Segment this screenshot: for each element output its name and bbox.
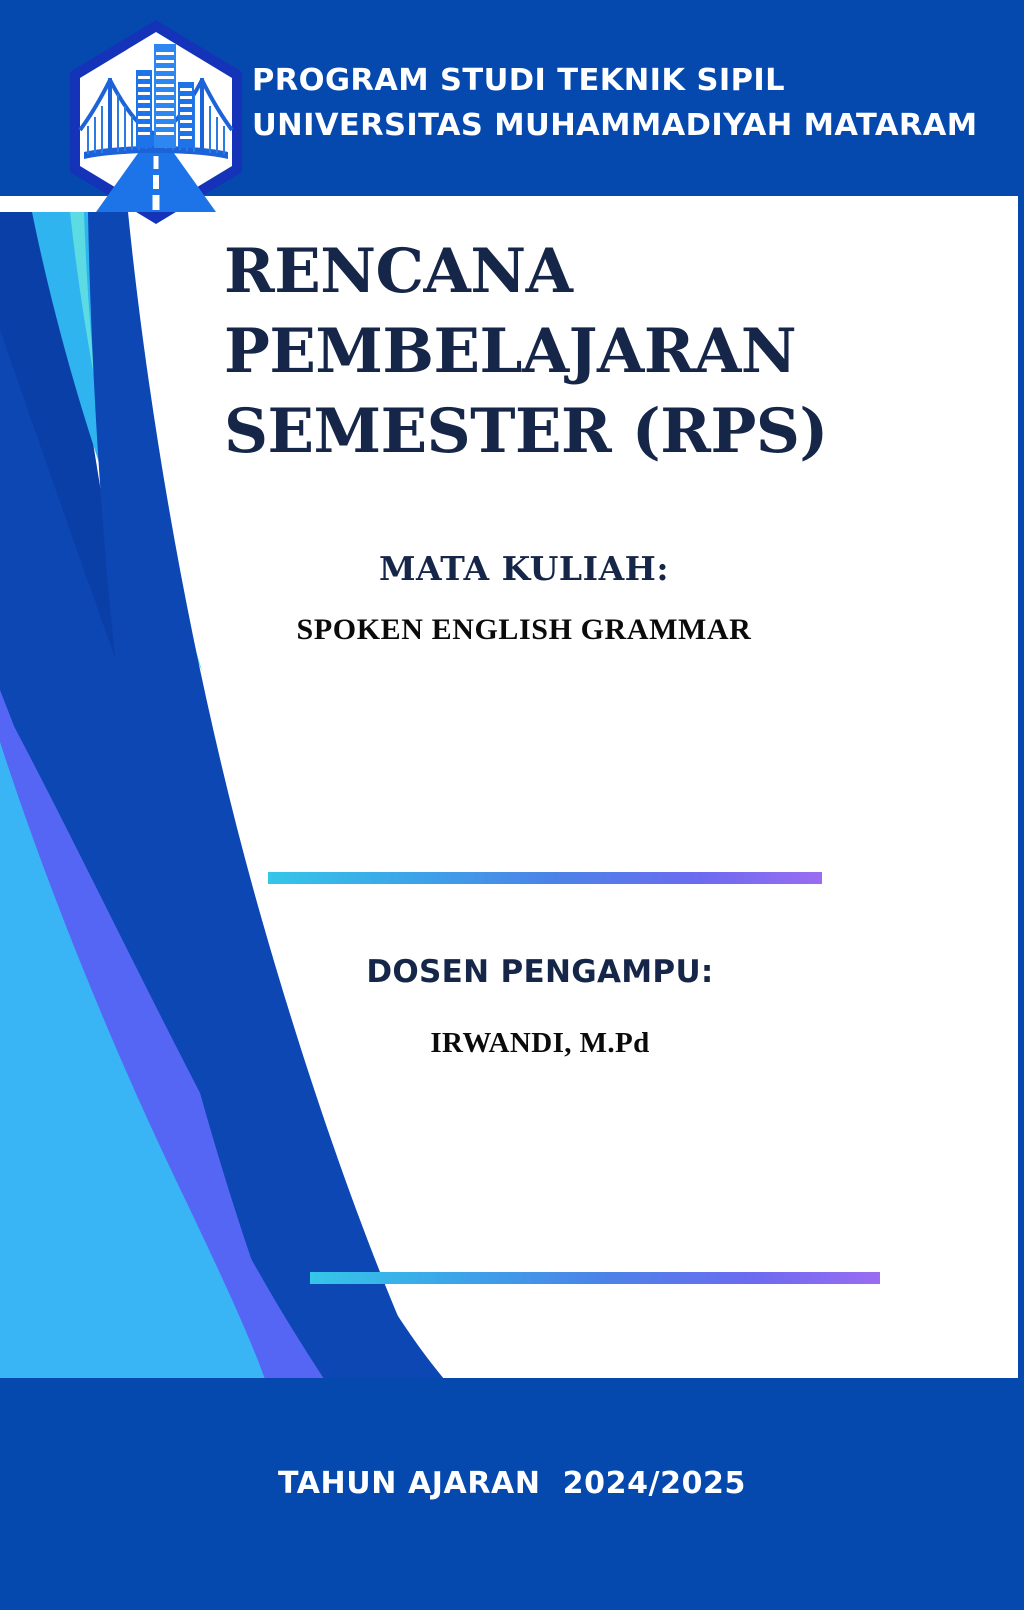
title-line-3: SEMESTER (RPS) (224, 392, 824, 472)
university-line: UNIVERSITAS MUHAMMADIYAH MATARAM (252, 103, 978, 148)
program-studi-line: PROGRAM STUDI TEKNIK SIPIL (252, 58, 978, 103)
lecturer-section: DOSEN PENGAMPU: IRWANDI, M.Pd (250, 952, 830, 1060)
course-section: MATA KULIAH: SPOKEN ENGLISH GRAMMAR (224, 548, 824, 648)
course-name: SPOKEN ENGLISH GRAMMAR (224, 612, 824, 648)
right-edge-strip (1018, 196, 1024, 1386)
rps-cover-page: PROGRAM STUDI TEKNIK SIPIL UNIVERSITAS M… (0, 0, 1024, 1610)
page-title: RENCANA PEMBELAJARAN SEMESTER (RPS) (224, 232, 824, 472)
logo-pylon-right (200, 78, 204, 154)
header-institution-text: PROGRAM STUDI TEKNIK SIPIL UNIVERSITAS M… (252, 58, 978, 148)
gradient-divider-bottom (310, 1272, 880, 1284)
civil-engineering-hexagon-badge-icon (66, 18, 246, 226)
lecturer-name: IRWANDI, M.Pd (250, 1026, 830, 1060)
title-line-2: PEMBELAJARAN (224, 312, 824, 392)
title-line-1: RENCANA (224, 232, 824, 312)
lecturer-label: DOSEN PENGAMPU: (250, 952, 830, 992)
footer-band: TAHUN AJARAN 2024/2025 (0, 1378, 1024, 1610)
gradient-divider-top (268, 872, 822, 884)
logo-pylon-left (108, 78, 112, 154)
academic-year: TAHUN AJARAN 2024/2025 (0, 1466, 1024, 1501)
course-label: MATA KULIAH: (224, 548, 824, 590)
university-logo (66, 18, 246, 226)
